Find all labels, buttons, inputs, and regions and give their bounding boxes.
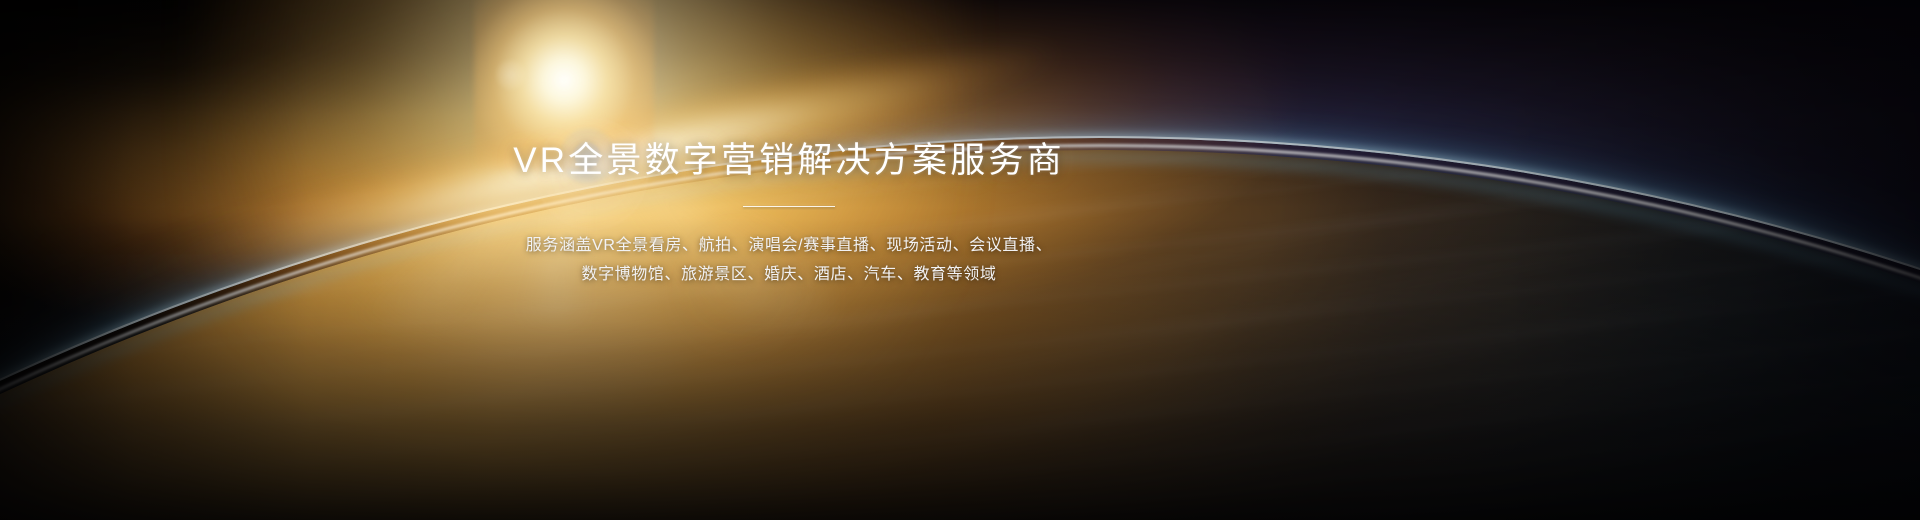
title-divider [743,206,835,207]
hero-subtitle-line-1: 服务涵盖VR全景看房、航拍、演唱会/赛事直播、现场活动、会议直播、 [526,231,1052,260]
hero-subtitle-line-2: 数字博物馆、旅游景区、婚庆、酒店、汽车、教育等领域 [526,260,1052,289]
hero-title: VR全景数字营销解决方案服务商 [513,138,1065,184]
hero-banner: VR全景数字营销解决方案服务商 服务涵盖VR全景看房、航拍、演唱会/赛事直播、现… [0,0,1920,520]
hero-subtitle: 服务涵盖VR全景看房、航拍、演唱会/赛事直播、现场活动、会议直播、 数字博物馆、… [526,231,1052,289]
hero-content: VR全景数字营销解决方案服务商 服务涵盖VR全景看房、航拍、演唱会/赛事直播、现… [0,0,1578,520]
